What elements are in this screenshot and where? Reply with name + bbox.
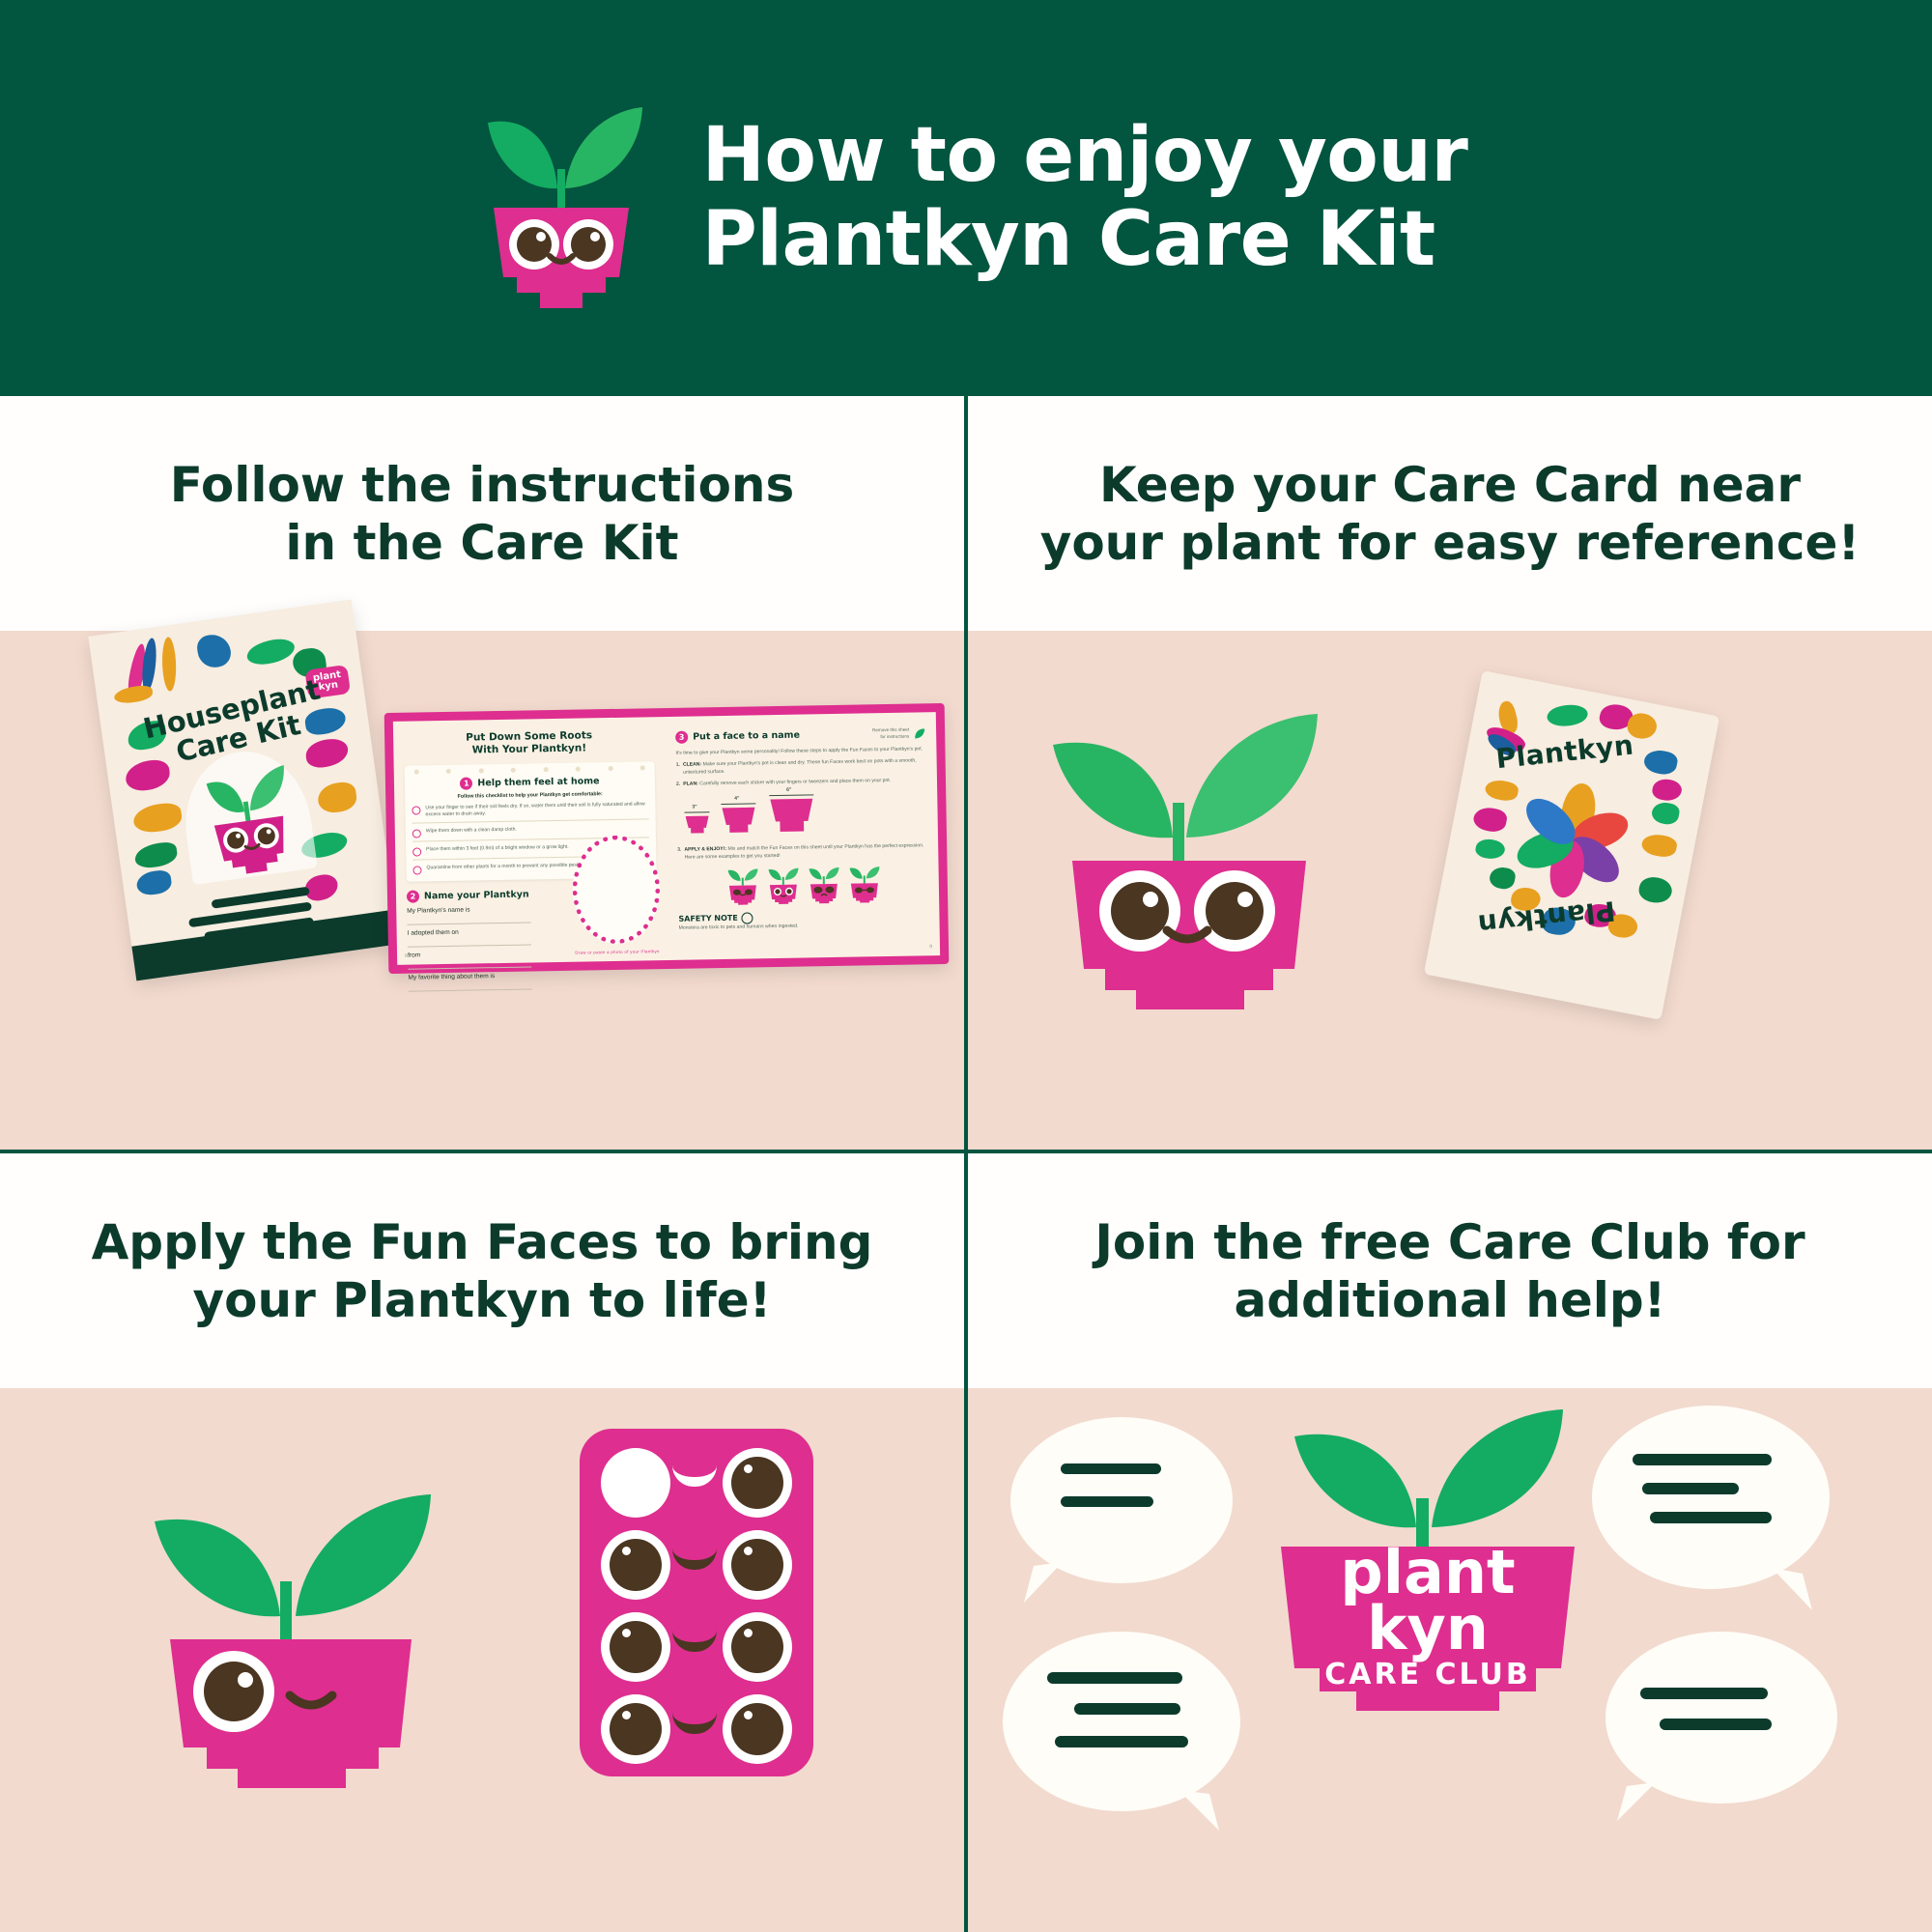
bubble-line [1074,1703,1180,1715]
item-label: APPLY & ENJOY!: [684,846,726,853]
checklist-text: Place them within 3 feet (0.9m) of a bri… [426,844,569,854]
sticker-smile[interactable] [672,1465,717,1487]
q1-heading-line1: Follow the instructions [170,456,795,514]
booklet-mascot-icon [192,754,304,883]
bubble-line [1633,1454,1772,1465]
page-title: How to enjoy your Plantkyn Care Kit [702,104,1468,283]
item-label: CLEAN: [683,762,701,768]
header-title-line2: Plantkyn Care Kit [702,198,1468,282]
oval-caption: Draw or paste a photo of your Plantkyn [574,949,661,955]
care-club-logo-line2: kyn [1246,1599,1609,1659]
step-1-title: Help them feel at home [477,776,599,788]
name-field[interactable] [407,912,530,924]
adopted-date-field[interactable] [408,934,531,947]
bubble-line [1047,1672,1182,1684]
quadrant-grid: Follow the instructions in the Care Kit [0,396,1932,1932]
checklist-item[interactable]: Use your finger to see if their soil fee… [412,801,648,820]
q1-heading-line2: in the Care Kit [170,514,795,572]
favorite-thing-field[interactable] [409,979,532,991]
example-plant-icon [846,865,882,904]
example-plants-row [678,864,929,907]
q3-heading-line1: Apply the Fun Faces to bring [92,1213,873,1271]
quadrant-3-artwork [0,1388,964,1932]
quadrant-join-care-club: Join the free Care Club for additional h… [968,1153,1932,1932]
bubble-line [1061,1463,1161,1474]
checklist-text: Wipe them down with a clean damp cloth. [426,827,517,836]
item-text: Make sure your Plantkyn's pot is clean a… [683,758,917,776]
item-number: 1. [676,762,681,777]
step-1-badge: 1 [460,777,472,789]
bubble-line [1640,1688,1768,1699]
sticker-eye[interactable] [723,1530,792,1600]
sticker-eye[interactable] [723,1448,792,1518]
quadrant-1-heading: Follow the instructions in the Care Kit [0,396,964,631]
quadrant-follow-instructions: Follow the instructions in the Care Kit [0,396,964,1150]
plantkyn-plant-icon [1016,658,1345,1035]
item-number: 3. [677,847,682,862]
example-plant-icon [765,866,801,905]
safety-icon [742,912,753,923]
step-2-title: Name your Plantkyn [424,889,529,901]
care-club-logo-line3: CARE CLUB [1246,1661,1609,1690]
sticker-eye[interactable] [601,1612,670,1682]
safety-note-title: SAFETY NOTE [678,914,737,923]
pinwheel-flower-icon [1501,769,1644,912]
header-banner: How to enjoy your Plantkyn Care Kit [0,0,1932,396]
bubble-bottom-left [1003,1632,1240,1811]
infographic-page: How to enjoy your Plantkyn Care Kit Foll… [0,0,1932,1932]
pot-size-label: 3" [692,805,696,810]
from-field[interactable] [408,956,531,969]
remove-note-line2: for instructions [872,733,909,741]
checkbox-icon[interactable] [412,806,420,814]
step-3-intro: It's time to give your Plantkyn some per… [675,746,925,757]
bubble-tail-icon [1762,1568,1820,1612]
sticker-eye[interactable] [601,1530,670,1600]
checkbox-icon[interactable] [412,847,421,856]
quadrant-3-heading: Apply the Fun Faces to bring your Plantk… [0,1153,964,1388]
step-1-intro: Follow this checklist to help your Plant… [412,790,648,800]
q4-heading-line1: Join the free Care Club for [1094,1213,1804,1271]
q4-heading-line2: additional help! [1094,1271,1804,1329]
pot-size-label: 4" [734,796,739,802]
punch-holes [414,765,645,774]
bubble-tail-icon [1018,1562,1072,1605]
q2-heading-line1: Keep your Care Card near [1040,456,1861,514]
fun-faces-sticker-sheet[interactable] [580,1429,813,1776]
sticker-smile[interactable] [672,1631,717,1652]
sticker-eye[interactable] [723,1612,792,1682]
sticker-smile[interactable] [672,1548,717,1570]
item-number: 2. [676,781,680,788]
sticker-eye[interactable] [723,1694,792,1764]
example-plant-icon [806,865,841,904]
quadrant-2-heading: Keep your Care Card near your plant for … [968,396,1932,631]
bubble-tail-icon [1171,1790,1227,1833]
page-number-left: 8 [405,953,408,959]
item-label: PLAN: [683,781,698,786]
q3-heading-line2: your Plantkyn to life! [92,1271,873,1329]
bubble-line [1061,1496,1153,1507]
care-card-word-bottom: Plantkyn [1476,895,1617,941]
header-title-line1: How to enjoy your [702,114,1468,198]
checkbox-icon[interactable] [412,866,421,874]
plantkyn-mascot-icon [465,72,658,314]
quadrant-keep-care-card: Keep your Care Card near your plant for … [968,396,1932,1150]
quadrant-2-artwork: Plantkyn Plantkyn [968,631,1932,1150]
instruction-sheet: Put Down Some Roots With Your Plantkyn! … [384,703,950,974]
care-card: Plantkyn Plantkyn [1424,670,1719,1020]
care-kit-booklet: plant kyn Houseplant Care Kit [88,600,399,981]
leaf-arrow-icon [914,727,925,739]
q2-heading-line2: your plant for easy reference! [1040,514,1861,572]
pot-size-label: 6" [786,787,791,793]
bubble-top-left [1010,1417,1233,1583]
quadrant-apply-fun-faces: Apply the Fun Faces to bring your Plantk… [0,1153,964,1932]
example-plant-icon [724,867,760,906]
plantkyn-one-eye-icon [126,1446,473,1833]
sticker-blank-slot[interactable] [601,1448,670,1518]
bubble-line [1055,1736,1188,1747]
instruction-sheet-right-page: 3 Put a face to a name Remove this sheet… [665,712,940,960]
bubble-line [1660,1719,1772,1730]
sheet-title: Put Down Some Roots With Your Plantkyn! [404,728,654,757]
pot-size-diagram: 3" 4" 6" [676,789,927,846]
sticker-smile[interactable] [672,1713,717,1734]
bubble-line [1650,1512,1772,1523]
step-3-badge: 3 [675,731,688,744]
checklist-text: Use your finger to see if their soil fee… [425,801,648,819]
page-number-right: 9 [929,944,932,950]
step-3-title: Put a face to a name [693,730,800,743]
bubble-tail-icon [1611,1782,1665,1823]
step-2-badge: 2 [407,890,419,902]
instruction-sheet-left-page: Put Down Some Roots With Your Plantkyn! … [393,717,668,965]
quadrant-4-heading: Join the free Care Club for additional h… [968,1153,1932,1388]
photo-oval-frame[interactable] [572,835,661,945]
bubble-bottom-right [1605,1632,1837,1804]
sticker-eye[interactable] [601,1694,670,1764]
checkbox-icon[interactable] [412,829,421,838]
quadrant-1-artwork: plant kyn Houseplant Care Kit [0,631,964,1150]
bubble-top-right [1592,1406,1830,1589]
bubble-line [1642,1483,1739,1494]
item-text: Carefully remove each sticker with your … [699,778,891,786]
quadrant-4-artwork: plant kyn CARE CLUB [968,1388,1932,1932]
